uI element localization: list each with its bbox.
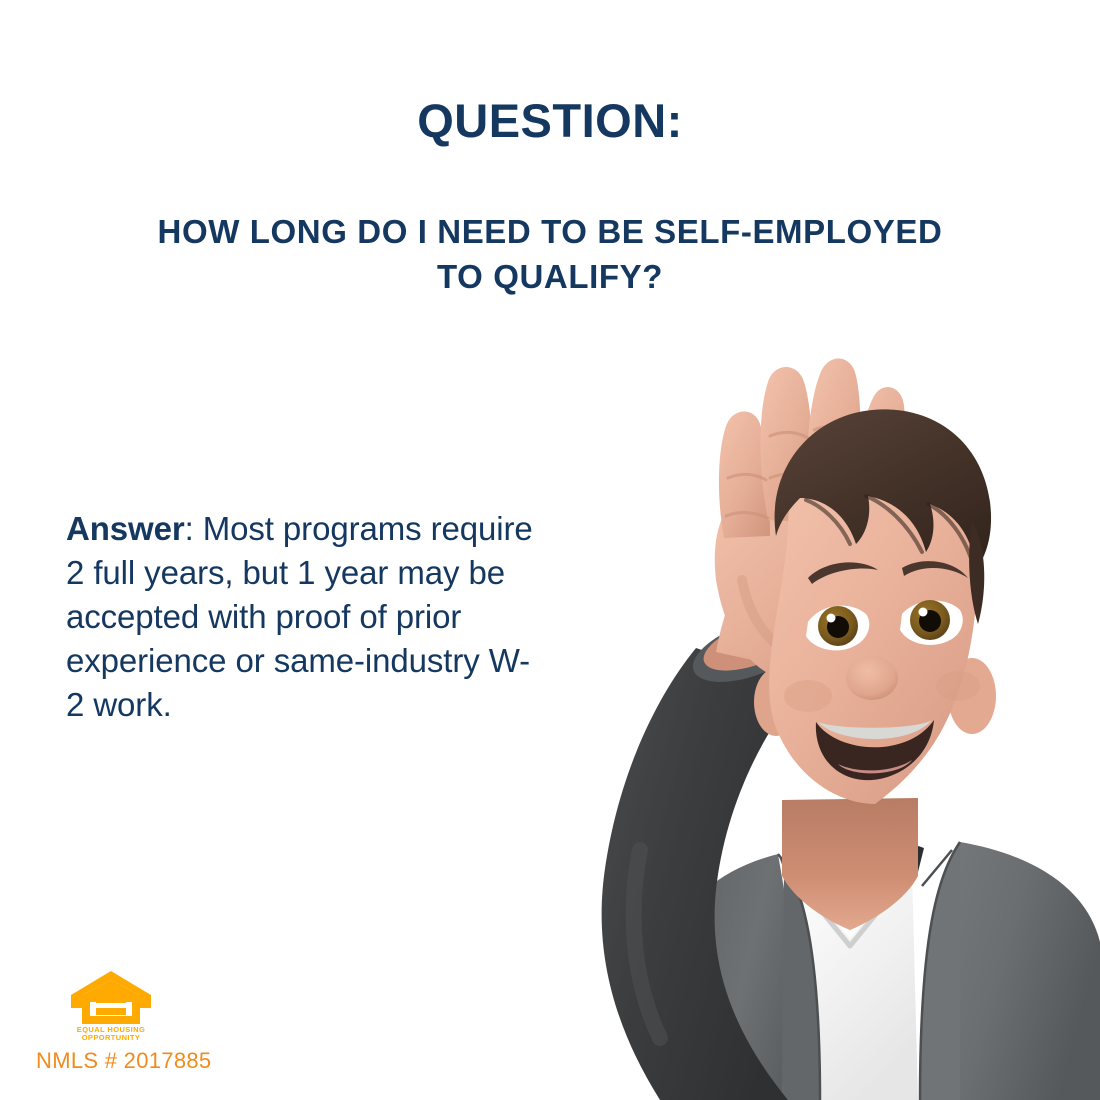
equal-housing-opportunity-logo: EQUAL HOUSING OPPORTUNITY (68, 968, 154, 1044)
head (754, 409, 996, 804)
question-label: QUESTION: (0, 95, 1100, 147)
answer-paragraph: Answer: Most programs require 2 full yea… (66, 507, 536, 726)
nmls-number: NMLS # 2017885 (36, 1048, 211, 1074)
logo-line2: OPPORTUNITY (82, 1033, 141, 1042)
social-graphic-canvas: QUESTION: HOW LONG DO I NEED TO BE SELF-… (0, 0, 1100, 1100)
man-raising-hand-illustration (520, 330, 1100, 1100)
answer-lead-label: Answer (66, 510, 185, 547)
page-title: HOW LONG DO I NEED TO BE SELF-EMPLOYED T… (150, 210, 950, 300)
